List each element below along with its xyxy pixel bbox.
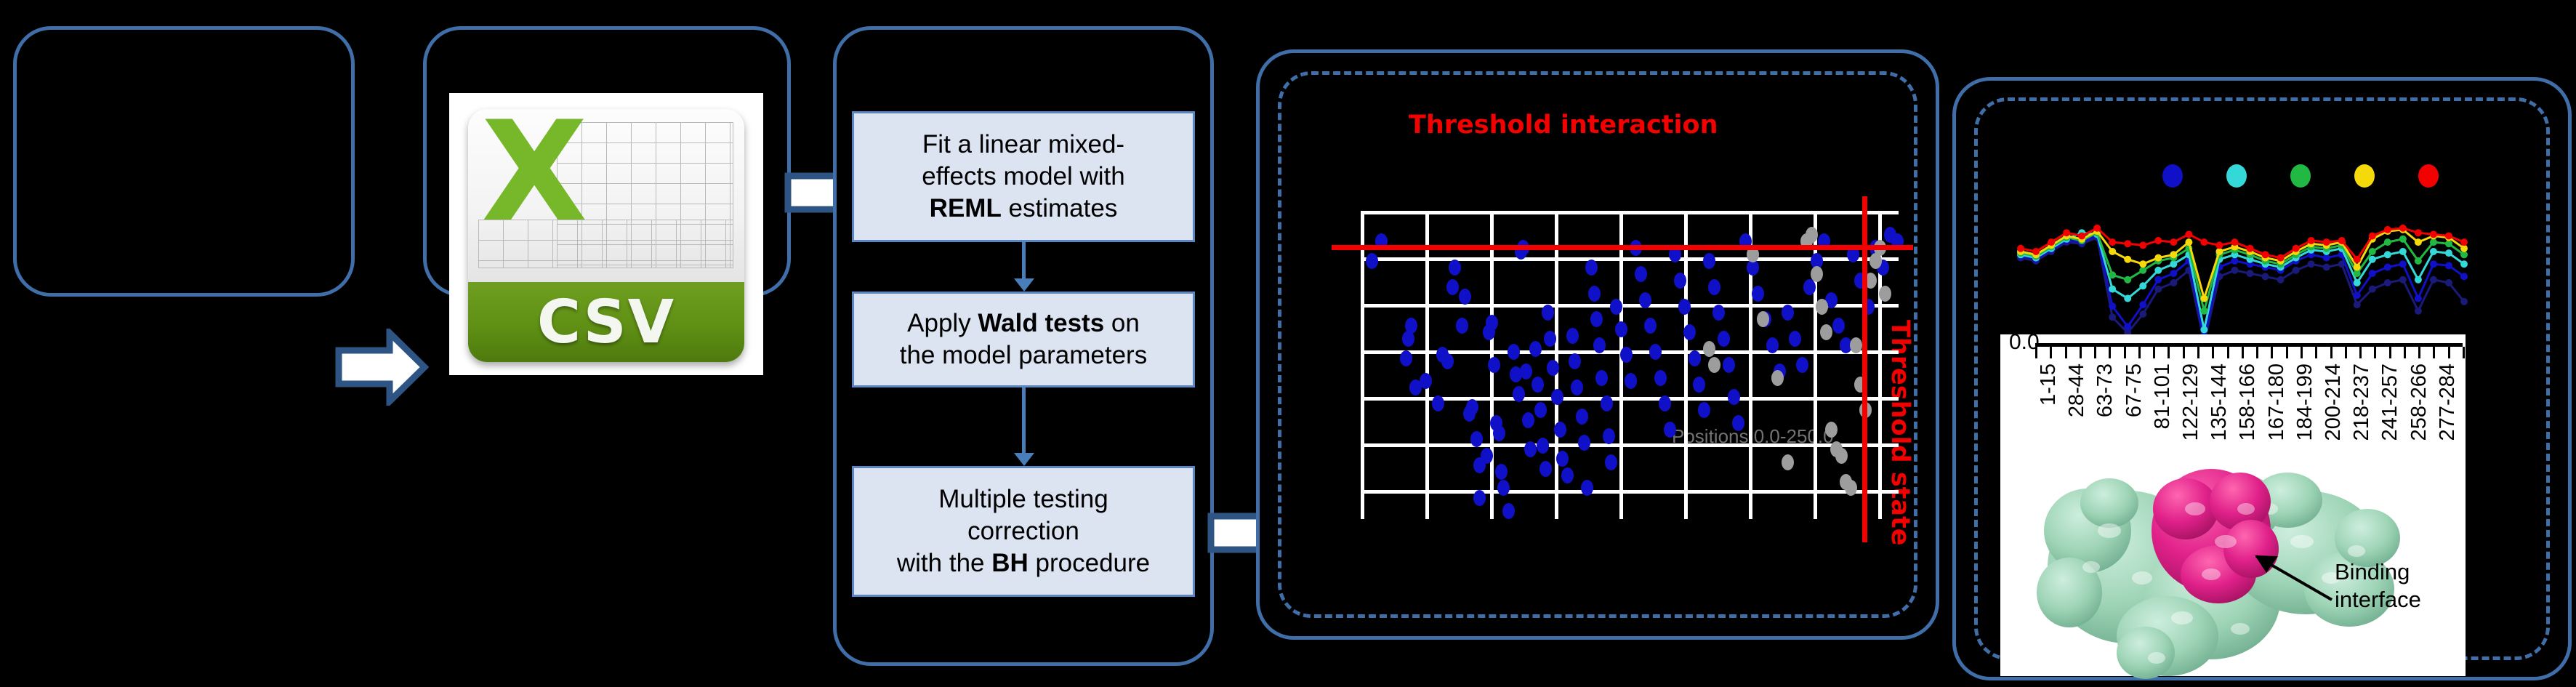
- scatter-point: [1539, 461, 1552, 477]
- peptide-tick-label: 67-75: [2122, 363, 2146, 417]
- peptide-marker: [2048, 238, 2055, 246]
- peptide-tick: [2065, 347, 2067, 358]
- scatter-point: [1723, 357, 1735, 373]
- scatter-point: [1708, 357, 1720, 373]
- peptide-marker: [2200, 308, 2207, 315]
- step-wald-bold: Wald tests: [978, 309, 1104, 337]
- peptide-marker: [2460, 245, 2468, 252]
- peptide-marker: [2139, 301, 2146, 308]
- peptide-line-series-red: [2021, 228, 2464, 260]
- step-wald-line2: the model parameters: [900, 341, 1147, 369]
- scatter-point: [1588, 286, 1601, 302]
- peptide-tick: [2345, 347, 2347, 358]
- peptide-marker: [2078, 233, 2085, 240]
- peptide-marker: [2308, 237, 2315, 244]
- peptide-tick: [2315, 347, 2317, 358]
- peptide-tick: [2050, 347, 2052, 358]
- peptide-tick: [2301, 347, 2303, 358]
- peptide-tick: [2256, 347, 2258, 358]
- peptide-tick-label: 1-15: [2037, 363, 2061, 406]
- threshold-interaction-line: [1332, 245, 1913, 250]
- peptide-marker: [2369, 233, 2376, 240]
- peptide-tick: [2271, 347, 2273, 358]
- scatter-point: [1782, 305, 1794, 321]
- peptide-marker: [2445, 279, 2452, 286]
- scatter-point: [1581, 480, 1593, 496]
- step-wald-tests[interactable]: Apply Wald tests on the model parameters: [852, 292, 1195, 387]
- peptide-tick: [2418, 347, 2420, 358]
- scatter-point: [1689, 350, 1701, 366]
- peptide-marker: [2384, 279, 2391, 286]
- peptide-marker: [2293, 245, 2300, 252]
- peptide-tick: [2448, 347, 2450, 358]
- peptide-tick: [2389, 347, 2391, 358]
- scatter-point: [1459, 289, 1471, 305]
- step-mt-line3-prefix: with the: [897, 549, 991, 577]
- input-panel[interactable]: [13, 26, 355, 297]
- peptide-tick: [2168, 347, 2170, 358]
- peptide-marker: [2430, 260, 2437, 268]
- scatter-point: [1566, 328, 1579, 344]
- scatter-point: [1400, 350, 1412, 366]
- peptide-tick: [2094, 347, 2096, 358]
- peptide-marker: [2323, 264, 2330, 271]
- binding-interface-label: Binding interface: [2335, 558, 2421, 614]
- threshold-state-line: [1862, 196, 1867, 542]
- peptide-tick: [2138, 347, 2141, 358]
- scatter-point: [1502, 503, 1515, 519]
- peptide-marker: [2415, 229, 2422, 236]
- peptide-marker: [2247, 270, 2254, 277]
- peptide-marker: [2109, 271, 2116, 278]
- peptide-marker: [2308, 260, 2315, 268]
- peptide-marker: [2124, 295, 2131, 302]
- scatter-point: [1508, 344, 1520, 360]
- scatter-point: [1649, 344, 1662, 360]
- peptide-tick: [2374, 347, 2376, 358]
- peptide-marker: [2354, 270, 2361, 277]
- peptide-marker: [2139, 241, 2146, 249]
- peptide-marker: [2430, 248, 2437, 255]
- peptide-marker: [2032, 248, 2040, 255]
- peptide-tick-label: 81-101: [2151, 363, 2175, 429]
- peptide-marker: [2063, 229, 2070, 236]
- peptide-marker: [2215, 241, 2223, 249]
- step-fit-model-line3: estimates: [1002, 194, 1118, 222]
- peptide-marker: [2215, 248, 2223, 255]
- peptide-marker: [2139, 282, 2146, 289]
- scatter-point: [1520, 363, 1532, 379]
- scatter-point: [1678, 299, 1691, 315]
- scatter-point: [1593, 337, 1606, 353]
- csv-file-icon: X CSV: [449, 93, 763, 375]
- connector-1: [1022, 242, 1026, 280]
- peptide-marker: [2277, 254, 2285, 262]
- scatter-point: [1620, 347, 1633, 363]
- peptide-marker: [2139, 310, 2146, 318]
- scatter-point: [1811, 266, 1823, 282]
- csv-spreadsheet-area: X: [468, 109, 744, 282]
- step-fit-model-line1: Fit a linear mixed-: [922, 130, 1124, 158]
- scatter-point: [1554, 422, 1566, 438]
- scatter-point: [1488, 357, 1500, 373]
- peptide-marker: [2399, 248, 2407, 255]
- peptide-marker: [2124, 323, 2131, 330]
- excel-x-glyph: X: [481, 109, 588, 241]
- peptide-tick: [2183, 347, 2185, 358]
- peptide-tick: [2463, 347, 2465, 358]
- scatter-point: [1420, 373, 1432, 389]
- peptide-marker: [2109, 302, 2116, 310]
- peptide-marker: [2445, 240, 2452, 247]
- peptide-marker: [2430, 276, 2437, 284]
- peptide-marker: [2415, 238, 2422, 246]
- peptide-marker: [2399, 276, 2407, 284]
- scatter-point: [1635, 266, 1647, 282]
- scatter-point: [1493, 425, 1505, 441]
- peptide-marker: [2185, 238, 2192, 246]
- peptide-marker: [2369, 286, 2376, 293]
- peptide-marker: [2109, 313, 2116, 321]
- peptide-marker: [2460, 298, 2468, 305]
- peptide-marker: [2445, 249, 2452, 257]
- scatter-point: [1449, 260, 1461, 276]
- scatter-point: [1595, 370, 1608, 386]
- binding-line1: Binding: [2335, 559, 2410, 584]
- peptide-marker: [2262, 251, 2269, 258]
- scatter-point: [1529, 341, 1542, 357]
- threshold-interaction-label: Threshold interaction: [1409, 111, 1718, 140]
- scatter-point: [1366, 253, 1378, 269]
- peptide-marker: [2338, 237, 2346, 244]
- step-fit-model-bold: REML: [930, 194, 1002, 222]
- csv-format-label: CSV: [537, 288, 675, 357]
- peptide-marker: [2399, 236, 2407, 243]
- peptide-marker: [2124, 256, 2131, 263]
- peptide-marker: [2154, 254, 2162, 262]
- scatter-point: [1601, 395, 1613, 411]
- connector-2: [1022, 387, 1026, 454]
- peptide-marker: [2154, 237, 2162, 244]
- connector-1-arrowhead: [1014, 278, 1034, 292]
- peptide-marker: [2384, 226, 2391, 233]
- peptide-marker: [2124, 240, 2131, 247]
- scatter-point: [1850, 337, 1862, 353]
- peptide-marker: [2415, 308, 2422, 315]
- scatter-point: [1703, 341, 1715, 357]
- peptide-marker: [2170, 279, 2177, 286]
- step-mt-line1: Multiple testing: [938, 485, 1108, 513]
- scatter-point: [1522, 412, 1534, 428]
- peptide-x-axis-line: [2035, 343, 2463, 347]
- peptide-marker: [2139, 267, 2146, 274]
- peptide-marker: [2384, 251, 2391, 258]
- peptide-marker: [2384, 238, 2391, 246]
- peptide-marker: [2354, 264, 2361, 271]
- peptide-marker: [2154, 286, 2162, 293]
- peptide-marker: [2231, 257, 2238, 265]
- peptide-marker: [2017, 245, 2024, 252]
- peptide-marker: [2369, 270, 2376, 277]
- peptide-marker: [2430, 238, 2437, 246]
- peptide-marker: [2323, 254, 2330, 262]
- peptide-marker: [2277, 276, 2285, 284]
- peptide-tick: [2330, 347, 2333, 358]
- peptide-marker: [2109, 248, 2116, 255]
- step-mt-bold: BH: [991, 549, 1029, 577]
- scatter-point: [1703, 253, 1715, 269]
- scatter-point: [1674, 273, 1686, 289]
- peptide-tick: [2124, 347, 2126, 358]
- peptide-marker: [2354, 256, 2361, 263]
- peptide-tick-label: 28-44: [2065, 363, 2089, 417]
- scatter-point: [1610, 299, 1622, 315]
- peptide-tick: [2197, 347, 2199, 358]
- scatter-point: [1835, 448, 1848, 464]
- step-wald-prefix: Apply: [907, 309, 978, 337]
- scatter-point: [1547, 360, 1559, 376]
- scatter-point: [1432, 395, 1444, 411]
- peptide-marker: [2445, 233, 2452, 240]
- peptide-marker: [2354, 292, 2361, 299]
- scatter-point: [1473, 490, 1486, 506]
- peptide-tick-label: 63-73: [2093, 363, 2117, 417]
- peptide-marker: [2415, 295, 2422, 302]
- step-wald-suffix: on: [1104, 309, 1140, 337]
- peptide-marker: [2139, 260, 2146, 268]
- scatter-point: [1405, 318, 1417, 334]
- peptide-line-chart[interactable]: [1992, 182, 2493, 345]
- peptide-marker: [2109, 238, 2116, 246]
- scatter-point: [1486, 315, 1498, 331]
- peptide-marker: [2170, 260, 2177, 268]
- scatter-plot[interactable]: [1361, 211, 1899, 519]
- step-fit-model[interactable]: Fit a linear mixed- effects model with R…: [852, 111, 1195, 242]
- peptide-tick: [2242, 347, 2244, 358]
- peptide-marker: [2109, 286, 2116, 293]
- scatter-point: [1534, 402, 1547, 418]
- peptide-tick: [2109, 347, 2111, 358]
- peptide-marker: [2200, 295, 2207, 302]
- peptide-marker: [2415, 276, 2422, 284]
- peptide-marker: [2170, 251, 2177, 258]
- peptide-marker: [2231, 238, 2238, 246]
- peptide-marker: [2231, 267, 2238, 274]
- scatter-point: [1654, 370, 1667, 386]
- scatter-point: [1708, 279, 1720, 295]
- scatter-point: [1495, 464, 1508, 480]
- scatter-point: [1728, 389, 1740, 405]
- scatter-point: [1752, 286, 1764, 302]
- scatter-point: [1782, 454, 1794, 470]
- peptide-marker: [2399, 260, 2407, 268]
- peptide-marker: [2384, 264, 2391, 271]
- step-mt-line2: correction: [967, 517, 1079, 545]
- peptide-marker: [2247, 245, 2254, 252]
- csv-format-band: CSV: [468, 282, 744, 362]
- step-mt-line3-suffix: procedure: [1029, 549, 1150, 577]
- peptide-marker: [2415, 257, 2422, 265]
- peptide-marker: [2124, 276, 2131, 284]
- peptide-tick: [2227, 347, 2229, 358]
- peptide-marker: [2354, 301, 2361, 308]
- scatter-point: [1879, 286, 1891, 302]
- peptide-marker: [2460, 238, 2468, 246]
- scatter-point: [1771, 370, 1784, 386]
- scatter-point: [1561, 467, 1574, 483]
- peptide-marker: [2154, 276, 2162, 284]
- peptide-marker: [2185, 230, 2192, 238]
- scatter-point: [1513, 386, 1525, 402]
- peptide-marker: [2170, 270, 2177, 277]
- peptide-marker: [2399, 225, 2407, 232]
- step-fit-model-line2: effects model with: [922, 162, 1125, 190]
- binding-line2: interface: [2335, 587, 2421, 612]
- peptide-marker: [2460, 260, 2468, 268]
- peptide-marker: [2170, 238, 2177, 246]
- peptide-marker: [2200, 326, 2207, 334]
- peptide-marker: [2369, 248, 2376, 255]
- peptide-tick: [2153, 347, 2155, 358]
- csv-badge: X CSV: [468, 109, 744, 362]
- arrow-into-csv: [334, 329, 429, 406]
- peptide-tick: [2433, 347, 2435, 358]
- connector-2-arrowhead: [1014, 453, 1034, 466]
- step-multiple-testing[interactable]: Multiple testing correction with the BH …: [852, 466, 1195, 597]
- protein-structure-figure: Binding interface: [2000, 422, 2466, 687]
- scatter-point: [1796, 357, 1808, 373]
- peptide-marker: [2293, 267, 2300, 274]
- scatter-point: [1446, 279, 1459, 295]
- scatter-point: [1603, 428, 1615, 444]
- peptide-tick: [2286, 347, 2288, 358]
- peptide-tick: [2080, 347, 2082, 358]
- scatter-point: [1816, 299, 1828, 315]
- peptide-marker: [2200, 238, 2207, 246]
- peptide-marker: [2262, 273, 2269, 280]
- peptide-tick: [2035, 347, 2037, 358]
- scatter-point: [1615, 321, 1627, 337]
- peptide-marker: [2154, 267, 2162, 274]
- peptide-marker: [2430, 230, 2437, 238]
- peptide-tick: [2212, 347, 2214, 358]
- peptide-tick: [2359, 347, 2362, 358]
- peptide-marker: [2460, 251, 2468, 258]
- peptide-marker: [2460, 273, 2468, 280]
- peptide-marker: [2323, 238, 2330, 246]
- peptide-marker: [2354, 279, 2361, 286]
- peptide-tick: [2404, 347, 2406, 358]
- scatter-point: [1466, 399, 1478, 415]
- scatter-point: [1789, 331, 1801, 347]
- peptide-marker: [2093, 225, 2101, 232]
- peptide-marker: [2445, 262, 2452, 269]
- scatter-point: [1481, 448, 1493, 464]
